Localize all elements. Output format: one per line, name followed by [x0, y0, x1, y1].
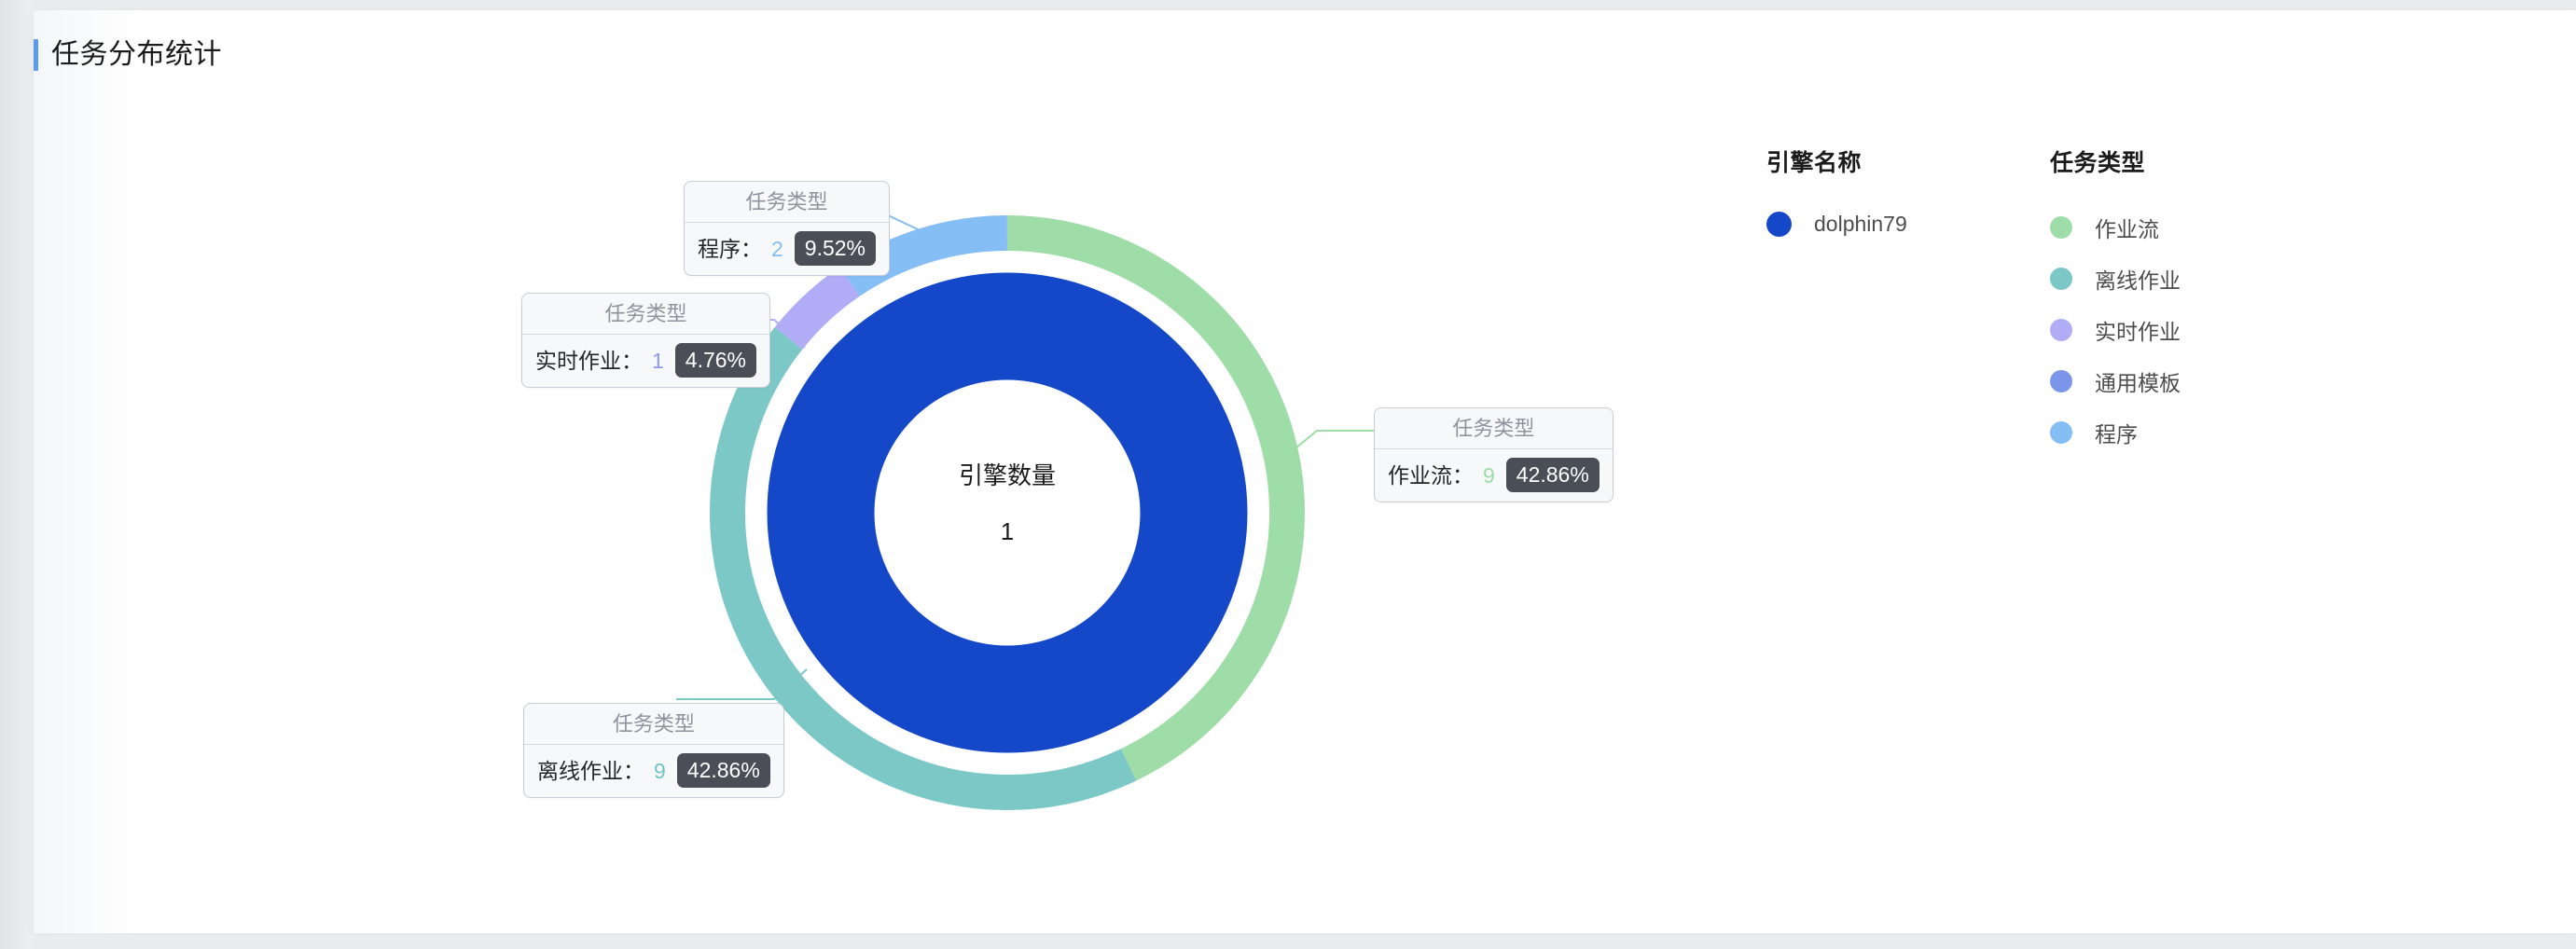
tooltip-workflow-percent: 42.86%	[1506, 458, 1600, 492]
tooltip-workflow-label: 作业流：	[1388, 461, 1474, 489]
donut-center-value: 1	[690, 517, 1324, 546]
tooltip-realtime-value: 1	[652, 347, 664, 375]
legend-dot-icon	[2050, 370, 2072, 392]
legend-item-offline[interactable]: 离线作业	[2050, 263, 2181, 295]
tooltip-offline-body: 离线作业： 9 42.86%	[524, 745, 783, 797]
legend-item-label: dolphin79	[1814, 212, 1907, 237]
legend-dot-icon	[2050, 268, 2072, 290]
legend-dot-icon	[2050, 319, 2072, 341]
legend-item-label: 实时作业	[2095, 314, 2181, 346]
legend-dot-icon	[2050, 421, 2072, 444]
legend-item-label: 离线作业	[2095, 263, 2181, 295]
tooltip-offline-label: 离线作业：	[537, 757, 644, 785]
tooltip-program-header: 任务类型	[685, 182, 889, 223]
legend-dot-icon	[1766, 212, 1792, 237]
tooltip-offline-header: 任务类型	[524, 704, 783, 745]
legend-item-template[interactable]: 通用模板	[2050, 365, 2181, 397]
legend-item-label: 作业流	[2095, 212, 2159, 243]
tooltip-program-label: 程序：	[698, 235, 762, 263]
tooltip-realtime-body: 实时作业： 1 4.76%	[522, 335, 769, 387]
tooltip-realtime-label: 实时作业：	[535, 347, 643, 375]
donut-chart: 引擎数量 1	[690, 196, 1324, 830]
donut-svg	[690, 196, 1324, 830]
chart-area: 引擎数量 1 任务类型 程序： 2 9.52% 任务类型	[0, 0, 2542, 923]
tooltip-program[interactable]: 任务类型 程序： 2 9.52%	[684, 181, 890, 276]
donut-center-label: 引擎数量	[690, 457, 1324, 491]
page-root: 任务分布统计 引擎数量 1	[0, 0, 2576, 949]
legend-tasktype-title: 任务类型	[2050, 144, 2181, 178]
legend-item-dolphin79[interactable]: dolphin79	[1766, 212, 1907, 237]
tooltip-workflow[interactable]: 任务类型 作业流： 9 42.86%	[1374, 407, 1613, 502]
legend-engine-name: 引擎名称 dolphin79	[1766, 144, 1907, 256]
tooltip-workflow-header: 任务类型	[1375, 408, 1613, 449]
tooltip-program-value: 2	[771, 235, 783, 263]
tooltip-workflow-value: 9	[1483, 461, 1495, 489]
legend-item-label: 程序	[2095, 417, 2138, 448]
tooltip-offline-value: 9	[654, 757, 666, 785]
tooltip-program-body: 程序： 2 9.52%	[685, 223, 889, 275]
legend-item-realtime[interactable]: 实时作业	[2050, 314, 2181, 346]
legend-item-program[interactable]: 程序	[2050, 417, 2181, 448]
legend-item-workflow[interactable]: 作业流	[2050, 212, 2181, 243]
tooltip-program-percent: 9.52%	[795, 231, 876, 266]
tooltip-realtime-header: 任务类型	[522, 294, 769, 335]
tooltip-realtime-percent: 4.76%	[675, 343, 756, 378]
legend-item-label: 通用模板	[2095, 365, 2181, 397]
legend-engine-title: 引擎名称	[1766, 144, 1907, 178]
tooltip-realtime[interactable]: 任务类型 实时作业： 1 4.76%	[521, 293, 770, 388]
tooltip-offline-percent: 42.86%	[677, 753, 770, 788]
tooltip-workflow-body: 作业流： 9 42.86%	[1375, 449, 1613, 502]
tooltip-offline[interactable]: 任务类型 离线作业： 9 42.86%	[523, 703, 784, 798]
donut-slice-dolphin79[interactable]	[821, 326, 1194, 699]
legend-task-type: 任务类型 作业流 离线作业 实时作业 通用模板 程序	[2050, 144, 2181, 468]
legend-dot-icon	[2050, 216, 2072, 239]
